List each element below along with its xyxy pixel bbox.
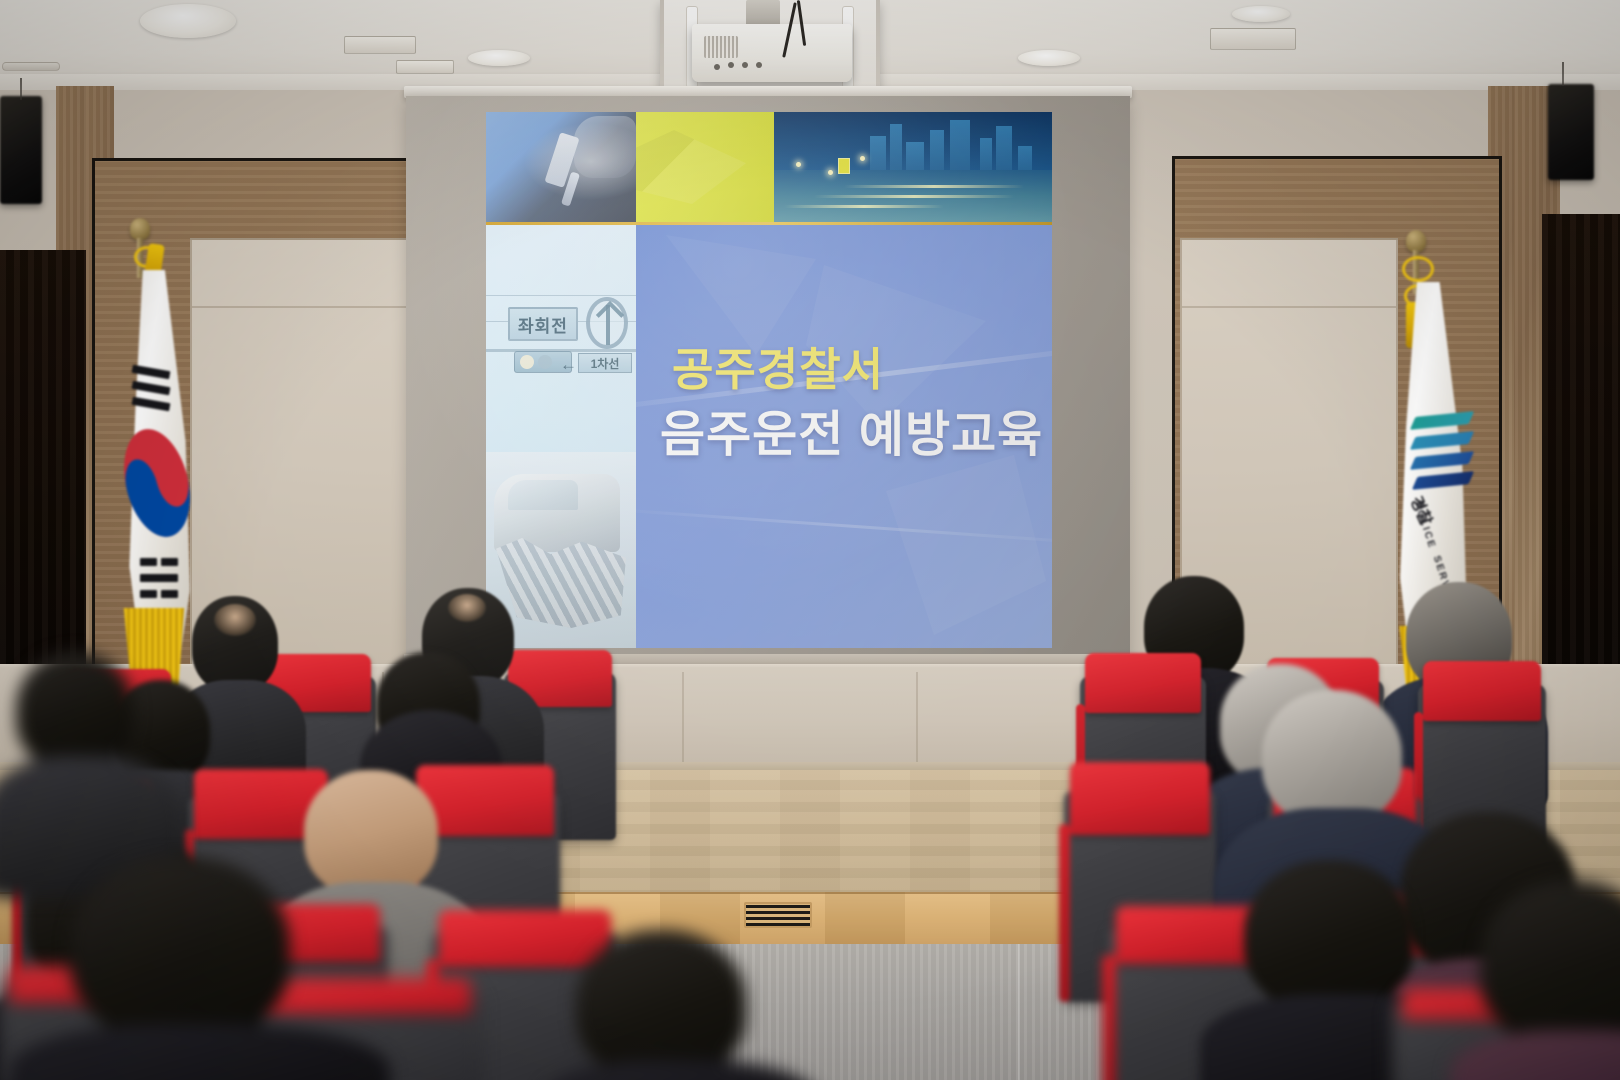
night-highway-city-photo <box>774 112 1052 222</box>
seat-cushion <box>1085 653 1201 712</box>
slide-title-line1: 공주경찰서 <box>672 333 884 398</box>
ceiling-light <box>1018 50 1080 66</box>
shoulders <box>1450 1030 1620 1080</box>
head <box>576 930 746 1080</box>
audience-member <box>560 930 790 1080</box>
flag-finial <box>1406 230 1426 252</box>
projector-vent-grille <box>704 36 738 58</box>
slide-top-band <box>486 112 1052 222</box>
trigram-bar <box>140 574 178 582</box>
taeguk-symbol <box>114 422 201 544</box>
audience-member <box>6 652 156 882</box>
dado-seam <box>916 672 918 772</box>
facet-shape <box>886 455 1046 635</box>
bald-spot <box>214 604 256 636</box>
seat-cushion <box>1423 661 1541 721</box>
projection-screen: 좌회전 ← 1차선 <box>406 96 1130 662</box>
audience-member <box>40 856 340 1080</box>
hand-shape <box>574 116 636 178</box>
head <box>70 856 290 1042</box>
presentation-slide: 좌회전 ← 1차선 <box>486 112 1052 648</box>
flag-finial <box>130 218 150 240</box>
wall-speaker-left <box>0 96 42 204</box>
head <box>16 652 134 770</box>
street-light <box>828 170 833 175</box>
auditorium-scene: 좌회전 ← 1차선 <box>0 0 1620 1080</box>
light-trail <box>814 195 1014 198</box>
bald-spot <box>448 594 486 622</box>
seat-edge <box>1059 824 1070 1002</box>
slide-left-photo-column: 좌회전 ← 1차선 <box>486 225 636 648</box>
head <box>1262 690 1402 824</box>
left-arrow-icon: ← <box>560 355 577 375</box>
ceiling-vent <box>396 60 454 74</box>
light-trail <box>784 205 944 208</box>
slide-title-panel: 공주경찰서 음주운전 예방교육 <box>636 225 1052 648</box>
slide-title-line2: 음주운전 예방교육 <box>660 395 1043 466</box>
flag-tassel-cord <box>1402 256 1434 282</box>
head <box>1480 880 1620 1048</box>
ceiling-slot-vent <box>2 62 60 71</box>
trigram-bar <box>140 558 157 566</box>
ceiling-light <box>468 50 530 66</box>
ceiling-light <box>1232 6 1290 22</box>
curtain-right <box>1542 214 1620 714</box>
projector-port <box>728 62 734 68</box>
trigram-bar <box>140 590 157 598</box>
head <box>1244 860 1414 1012</box>
projector-port <box>756 62 762 68</box>
dado-seam <box>682 672 684 772</box>
projector-port <box>742 62 748 68</box>
street-light <box>860 156 865 161</box>
shoulders <box>540 1060 820 1080</box>
trigram-bar <box>161 558 178 566</box>
floor-vent-grille <box>744 902 812 928</box>
ceiling-vent <box>344 36 416 54</box>
curtain-left <box>0 250 86 720</box>
panel-seam <box>1182 306 1396 308</box>
light-trail <box>844 185 1024 188</box>
no-straight-ahead-icon <box>586 297 628 349</box>
traffic-lamp <box>538 355 552 369</box>
shoulders <box>10 1024 390 1080</box>
breathalyzer-photo <box>486 112 636 222</box>
street-light <box>796 162 801 167</box>
road-sign <box>838 158 850 174</box>
wall-speaker-right <box>1548 84 1594 180</box>
traffic-lamp <box>520 355 534 369</box>
overhead-wire <box>486 295 636 296</box>
speaker-wire-right <box>1562 62 1564 86</box>
floor-tile-line <box>1018 944 1020 1080</box>
ceiling-vent <box>1210 28 1296 50</box>
slide-body: 좌회전 ← 1차선 <box>486 225 1052 648</box>
lane-sign: 1차선 <box>578 353 632 373</box>
left-turn-sign: 좌회전 <box>508 307 578 341</box>
projector-port <box>714 64 720 70</box>
ceiling-light <box>140 4 236 38</box>
speaker-wire-left <box>20 78 22 100</box>
projector-mount-arm <box>746 0 780 26</box>
seat-cushion <box>1070 762 1210 834</box>
yellow-graphic-block <box>636 112 774 222</box>
seat-edge <box>1102 955 1115 1080</box>
car-windshield <box>508 480 578 510</box>
audience-member <box>1470 880 1620 1080</box>
